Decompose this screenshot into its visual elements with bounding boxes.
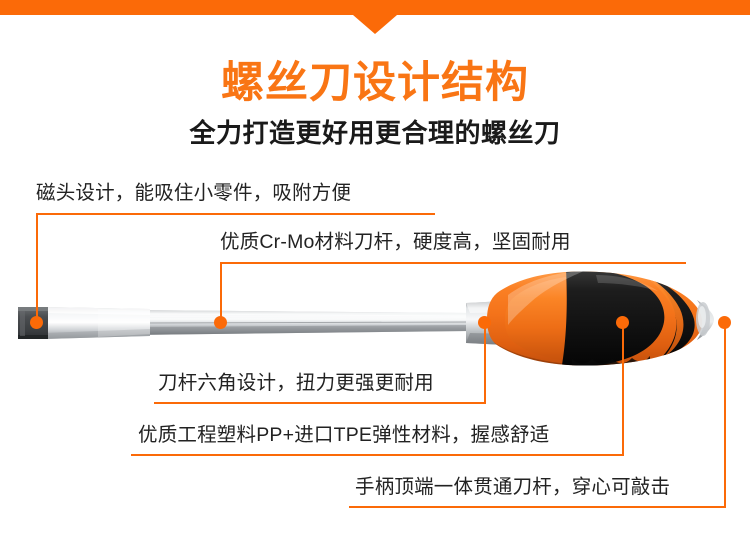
screwdriver-handle — [487, 269, 714, 372]
anchor-dot-pp-tpe-grip — [616, 316, 629, 329]
leader-line-h-crmo-shaft — [220, 262, 686, 264]
anchor-dot-through-shaft — [718, 316, 731, 329]
anchor-dot-magnetic-tip — [30, 316, 43, 329]
callout-label-magnetic-tip: 磁头设计，能吸住小零件，吸附方便 — [36, 184, 351, 204]
leader-line-v-pp-tpe-grip — [622, 322, 624, 454]
banner-notch-triangle-icon — [353, 15, 397, 34]
leader-line-h-pp-tpe-grip — [131, 454, 624, 456]
anchor-dot-hex-shaft — [478, 316, 491, 329]
leader-line-v-through-shaft — [724, 322, 726, 506]
page-title: 螺丝刀设计结构 — [0, 62, 750, 105]
screwdriver-blade — [44, 307, 150, 339]
leader-line-h-magnetic-tip — [36, 213, 435, 215]
callout-label-crmo-shaft: 优质Cr-Mo材料刀杆，硬度高，坚固耐用 — [220, 233, 571, 253]
callout-label-through-shaft: 手柄顶端一体贯通刀杆，穿心可敲击 — [355, 478, 670, 498]
anchor-dot-crmo-shaft — [214, 316, 227, 329]
product-detail-page: 螺丝刀设计结构 全力打造更好用更合理的螺丝刀 — [0, 0, 750, 548]
leader-line-h-through-shaft — [349, 506, 726, 508]
callout-label-hex-shaft: 刀杆六角设计，扭力更强更耐用 — [158, 374, 434, 394]
screwdriver-shaft — [130, 310, 470, 335]
screwdriver-illustration — [0, 255, 750, 390]
leader-line-v-crmo-shaft — [220, 262, 222, 323]
leader-line-h-hex-shaft — [154, 402, 486, 404]
leader-line-v-magnetic-tip — [36, 213, 38, 323]
page-subtitle: 全力打造更好用更合理的螺丝刀 — [0, 118, 750, 149]
callout-label-pp-tpe-grip: 优质工程塑料PP+进口TPE弹性材料，握感舒适 — [138, 426, 549, 446]
top-accent-bar — [0, 0, 750, 15]
leader-line-v-hex-shaft — [484, 322, 486, 402]
